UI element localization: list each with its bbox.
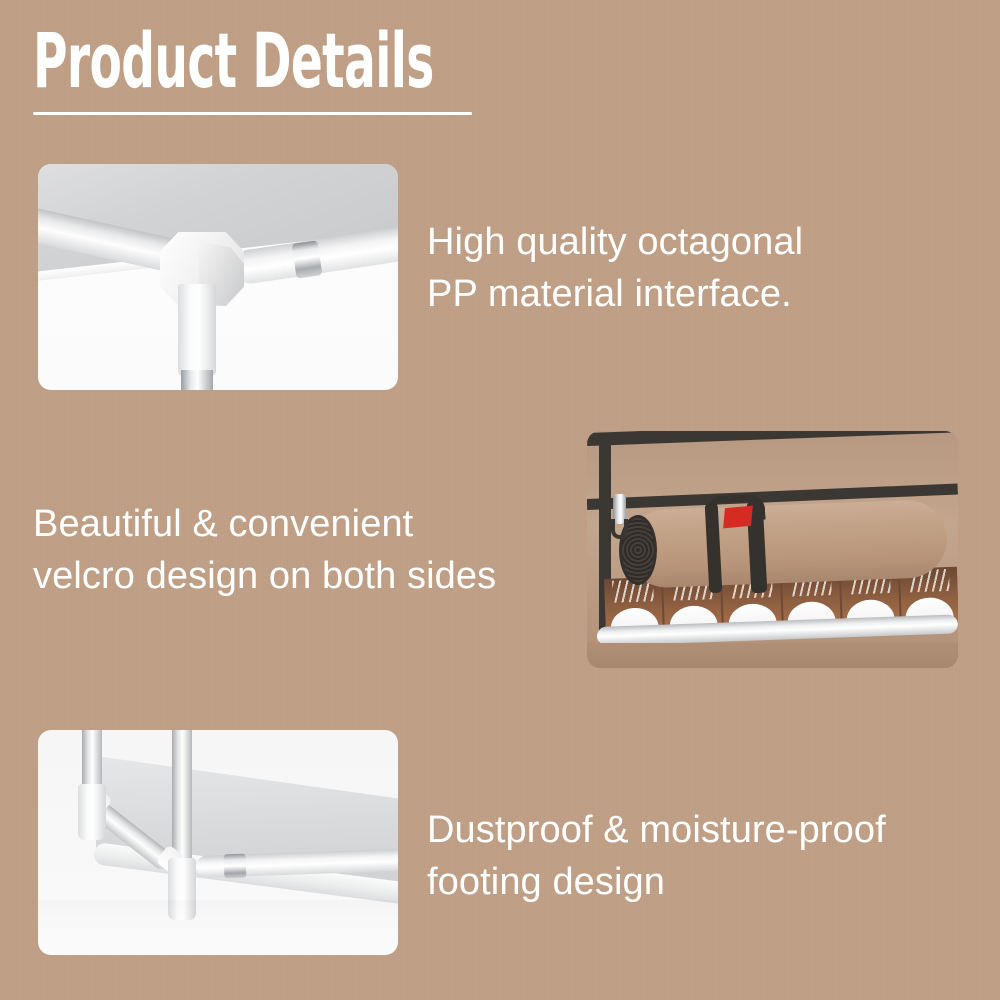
title-underline [33,112,472,115]
feature-image-footing [38,730,398,955]
frame-post-mid [172,730,192,866]
feature-caption-velcro: Beautiful & convenient velcro design on … [33,498,496,602]
frame-post-left [82,730,102,790]
feature-image-velcro [587,431,958,668]
cabinet-lower-panel [587,643,958,668]
frame-leg [178,284,216,376]
product-details-page: Product Details High quality octagonal P… [0,0,1000,1000]
leg-chrome-sleeve [181,370,213,390]
chrome-ring [292,240,323,278]
rail-chrome-sleeve [224,854,247,879]
footing-connector-left [78,784,106,840]
zipper-pull-icon [611,519,628,539]
feature-caption-footing: Dustproof & moisture-proof footing desig… [427,804,886,908]
feature-caption-octagon: High quality octagonal PP material inter… [427,216,803,320]
page-title: Product Details [33,22,434,100]
rolled-fabric-cover [626,499,949,589]
velcro-red-tab [723,506,753,529]
feature-image-octagon [38,164,398,390]
floor-shadow [38,900,398,955]
